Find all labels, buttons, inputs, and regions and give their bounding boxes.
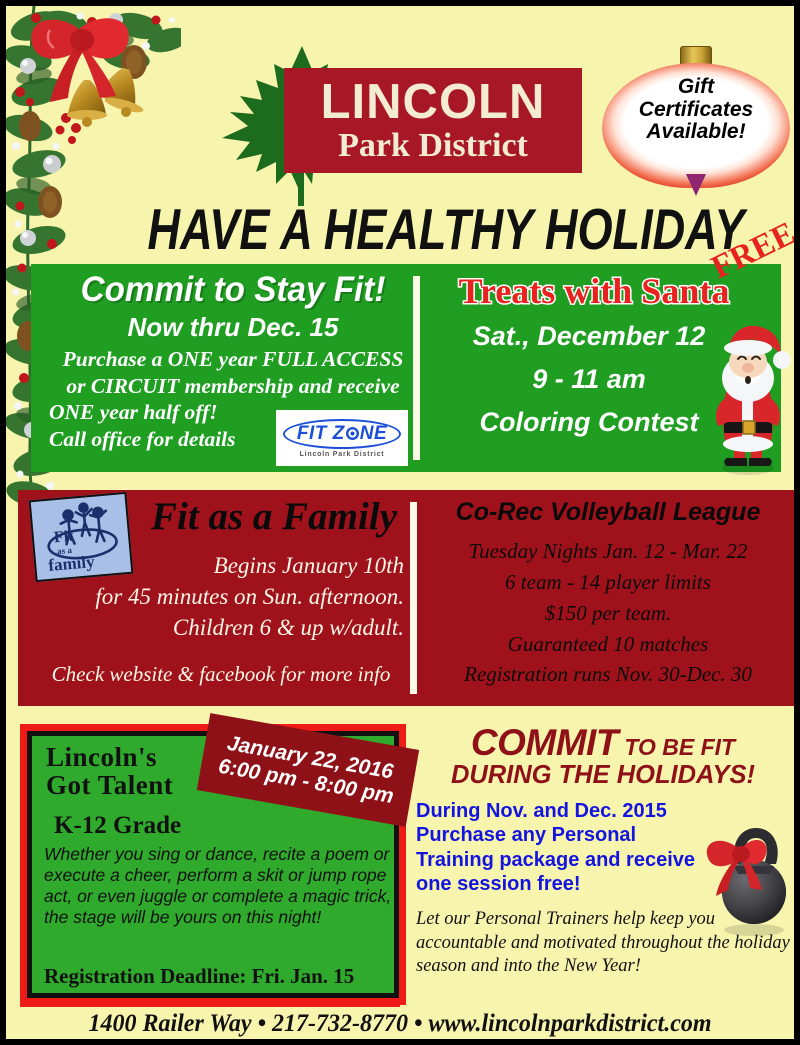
santa-date: Sat., December 12 (439, 321, 739, 352)
santa-claus-illustration (700, 318, 796, 478)
lincoln-park-district-logo: LINCOLN Park District (214, 42, 584, 207)
ornament-line2: Certificates (614, 99, 778, 122)
faf-line-1: Begins January 10th (26, 550, 404, 581)
faf-line-2: for 45 minutes on Sun. afternoon. (26, 581, 404, 612)
fitzone-subtitle: Lincoln Park District (300, 451, 385, 458)
ornament-point-icon (686, 174, 706, 196)
footer-divider-rule (20, 1002, 400, 1007)
kettlebell-illustration (696, 818, 800, 936)
fit-zone-logo: FIT Z NE Lincoln Park District (276, 410, 408, 466)
volleyball-title: Co-Rec Volleyball League (428, 498, 788, 527)
faf-logo-line1: Fit (53, 528, 75, 547)
fit-as-a-family-body: Begins January 10th for 45 minutes on Su… (26, 550, 410, 643)
talent-title-line1: Lincoln's (46, 744, 173, 772)
volleyball-line-3: $150 per team. (424, 598, 792, 629)
commit-to-be-fit-heading: COMMIT TO BE FIT DURING THE HOLIDAYS! (412, 724, 794, 789)
commit-head-line2: DURING THE HOLIDAYS! (412, 763, 794, 789)
commit-head-big: COMMIT (471, 722, 618, 763)
fitzone-target-icon (346, 427, 359, 440)
treats-with-santa-title: Treats with Santa (449, 270, 739, 312)
logo-line1: LINCOLN (321, 78, 546, 126)
red-programs-row: Fit as a family Fit as a Family Begins J… (18, 490, 794, 706)
volleyball-body: Tuesday Nights Jan. 12 - Mar. 22 6 team … (424, 536, 792, 690)
ornament-line3: Available! (614, 121, 778, 144)
commit-fit-line-2: or CIRCUIT membership and receive (37, 373, 429, 400)
gift-certificates-ornament: Gift Certificates Available! (598, 46, 794, 196)
bell-icon (67, 63, 145, 127)
ornament-line1: Gift (614, 76, 778, 99)
fitzone-word-right: NE (360, 423, 387, 445)
fit-as-a-family-title: Fit as a Family (138, 494, 410, 539)
volleyball-line-4: Guaranteed 10 matches (424, 629, 792, 660)
commit-fit-line-1: Purchase a ONE year FULL ACCESS (37, 346, 429, 373)
fit-as-a-family-footer: Check website & facebook for more info (26, 662, 416, 687)
volleyball-line-1: Tuesday Nights Jan. 12 - Mar. 22 (424, 536, 792, 567)
commit-head-small: TO BE FIT (618, 734, 735, 760)
faf-line-3: Children 6 & up w/adult. (26, 612, 404, 643)
red-bow-icon (31, 18, 129, 102)
personal-training-offer: During Nov. and Dec. 2015 Purchase any P… (416, 799, 716, 897)
santa-time: 9 - 11 am (439, 364, 739, 395)
volleyball-line-2: 6 team - 14 player limits (424, 567, 792, 598)
commit-stay-fit-subtitle: Now thru Dec. 15 (43, 312, 423, 343)
talent-title-line2: Got Talent (46, 772, 173, 800)
commit-stay-fit-title: Commit to Stay Fit! (53, 270, 414, 310)
talent-grade-range: K-12 Grade (54, 812, 181, 840)
footer-contact-info: 1400 Railer Way • 217-732-8770 • www.lin… (22, 1010, 778, 1038)
volleyball-line-5: Registration runs Nov. 30-Dec. 30 (424, 659, 792, 690)
talent-registration-deadline: Registration Deadline: Fri. Jan. 15 (44, 964, 400, 989)
santa-activity: Coloring Contest (439, 407, 739, 438)
flyer-page: LINCOLN Park District Gift Certificates … (0, 0, 800, 1045)
fitzone-word-left: FIT Z (297, 423, 345, 445)
logo-line2: Park District (338, 128, 528, 164)
talent-description: Whether you sing or dance, recite a poem… (44, 844, 396, 928)
